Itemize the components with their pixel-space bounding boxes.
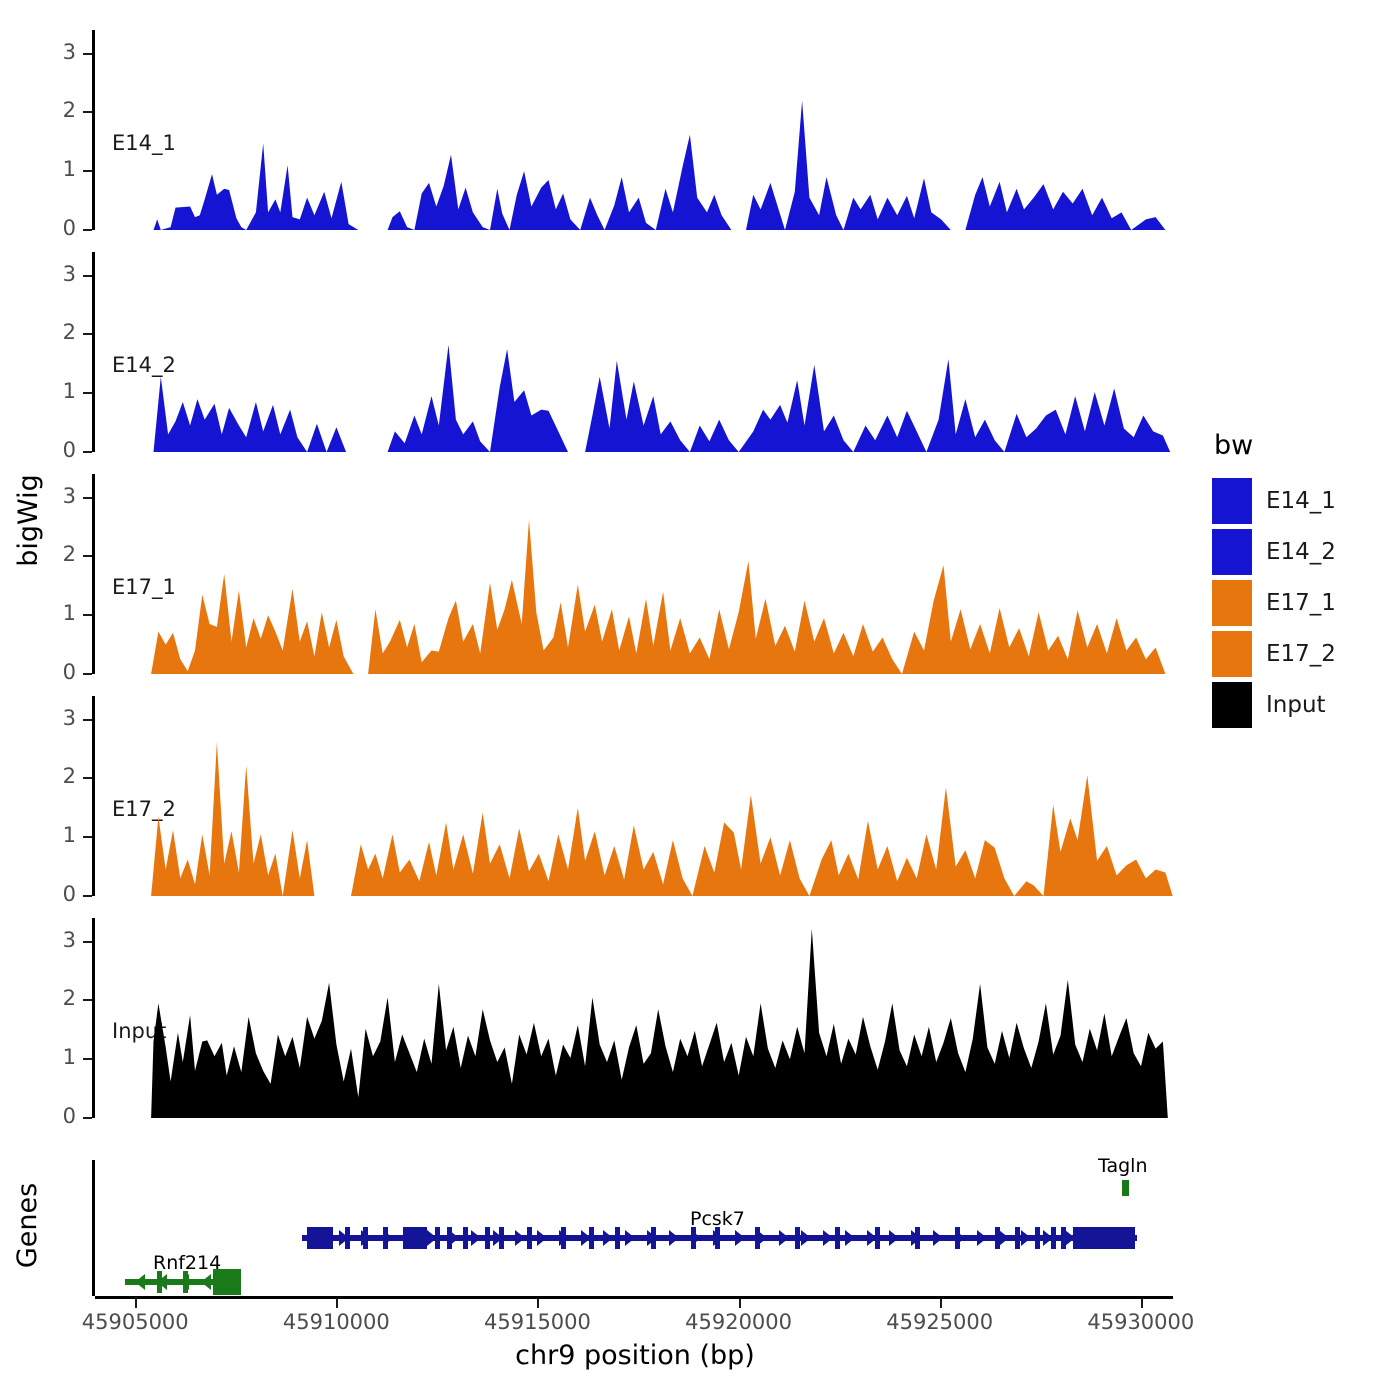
track-fill [154, 345, 1171, 452]
y-tick [83, 777, 92, 779]
pcsk7-strand-arrow [471, 1230, 481, 1246]
pcsk7-exon-tick [835, 1227, 840, 1249]
gene-label-rnf214: Rnf214 [153, 1252, 221, 1274]
pcsk7-strand-arrow [625, 1230, 635, 1246]
pcsk7-exon-tick [485, 1227, 490, 1249]
track-svg [95, 252, 1180, 452]
y-tick-label: 2 [36, 986, 76, 1010]
pcsk7-strand-arrow [889, 1230, 899, 1246]
pcsk7-strand-arrow [669, 1230, 679, 1246]
pcsk7-exon-tick [795, 1227, 800, 1249]
y-tick [83, 614, 92, 616]
y-tick-label: 2 [36, 98, 76, 122]
legend-item-e14_1[interactable]: E14_1 [1212, 475, 1336, 526]
x-axis-title: chr9 position (bp) [90, 1340, 1180, 1371]
pcsk7-exon-tick [463, 1227, 468, 1249]
y-tick-label: 3 [36, 484, 76, 508]
y-tick [83, 1058, 92, 1060]
y-tick [83, 719, 92, 721]
legend: bw E14_1E14_2E17_1E17_2Input [1212, 430, 1336, 730]
x-tick [537, 1299, 539, 1308]
pcsk7-strand-arrow [735, 1230, 745, 1246]
y-tick [83, 673, 92, 675]
legend-label: Input [1266, 692, 1326, 718]
y-tick [83, 895, 92, 897]
pcsk7-strand-arrow [845, 1230, 855, 1246]
pcsk7-strand-arrow [823, 1230, 833, 1246]
track-area-e14_1 [95, 30, 1180, 230]
pcsk7-exon [1073, 1227, 1135, 1249]
y-tick [83, 836, 92, 838]
genes-svg [95, 1160, 1180, 1296]
track-panel-e17_1: 0123E17_1 [0, 474, 1180, 674]
track-svg [95, 474, 1180, 674]
legend-label: E17_1 [1266, 590, 1336, 616]
gene-label-tagln: Tagln [1098, 1155, 1148, 1177]
y-tick-label: 1 [36, 1045, 76, 1069]
track-fill [151, 520, 1165, 674]
y-tick-label: 1 [36, 601, 76, 625]
legend-item-e17_2[interactable]: E17_2 [1212, 628, 1336, 679]
y-tick [83, 941, 92, 943]
pcsk7-strand-arrow [999, 1230, 1009, 1246]
track-svg [95, 696, 1180, 896]
legend-title: bw [1214, 430, 1336, 461]
legend-color-swatch [1212, 631, 1252, 677]
pcsk7-strand-arrow [933, 1230, 943, 1246]
y-tick-label: 0 [36, 660, 76, 684]
legend-color-swatch [1212, 478, 1252, 524]
y-tick-label: 2 [36, 764, 76, 788]
legend-color-swatch [1212, 682, 1252, 728]
x-tick [1141, 1299, 1143, 1308]
x-tick [336, 1299, 338, 1308]
pcsk7-strand-arrow [757, 1230, 767, 1246]
pcsk7-strand-arrow [449, 1230, 459, 1246]
y-tick [83, 999, 92, 1001]
y-tick-label: 1 [36, 379, 76, 403]
rnf214-strand-arrow [201, 1274, 211, 1290]
y-tick-label: 0 [36, 438, 76, 462]
pcsk7-exon-tick [527, 1227, 532, 1249]
legend-items: E14_1E14_2E17_1E17_2Input [1212, 475, 1336, 730]
track-fill [151, 742, 1173, 896]
legend-color-swatch [1212, 580, 1252, 626]
x-tick [739, 1299, 741, 1308]
legend-item-input[interactable]: Input [1212, 679, 1336, 730]
pcsk7-strand-arrow [1021, 1230, 1031, 1246]
track-area-e17_2 [95, 696, 1180, 896]
y-tick-label: 3 [36, 262, 76, 286]
y-tick [83, 229, 92, 231]
legend-item-e14_2[interactable]: E14_2 [1212, 526, 1336, 577]
legend-item-e17_1[interactable]: E17_1 [1212, 577, 1336, 628]
pcsk7-strand-arrow [603, 1230, 613, 1246]
track-svg [95, 30, 1180, 230]
y-tick [83, 451, 92, 453]
genes-area [95, 1160, 1180, 1296]
x-tick-label: 45915000 [447, 1310, 627, 1334]
legend-label: E14_1 [1266, 488, 1336, 514]
y-tick-label: 0 [36, 216, 76, 240]
x-axis-line [95, 1296, 1173, 1299]
y-tick-label: 0 [36, 1104, 76, 1128]
track-panel-input: 0123Input [0, 918, 1180, 1118]
y-tick [83, 392, 92, 394]
x-tick-label: 45905000 [45, 1310, 225, 1334]
track-area-input [95, 918, 1180, 1118]
y-tick [83, 111, 92, 113]
y-tick-label: 3 [36, 928, 76, 952]
pcsk7-strand-arrow [801, 1230, 811, 1246]
y-axis-title-genes: Genes [8, 1160, 48, 1290]
x-tick-label: 45930000 [1051, 1310, 1231, 1334]
y-tick-label: 0 [36, 882, 76, 906]
y-tick-label: 3 [36, 706, 76, 730]
x-tick-label: 45910000 [246, 1310, 426, 1334]
track-fill [154, 101, 1166, 230]
track-panel-e17_2: 0123E17_2 [0, 696, 1180, 896]
x-tick [940, 1299, 942, 1308]
pcsk7-strand-arrow [537, 1230, 547, 1246]
gene-label-pcsk7: Pcsk7 [690, 1208, 745, 1230]
x-tick [135, 1299, 137, 1308]
pcsk7-exon-tick [615, 1227, 620, 1249]
y-tick [83, 53, 92, 55]
pcsk7-strand-arrow [515, 1230, 525, 1246]
y-tick [83, 275, 92, 277]
y-tick [83, 170, 92, 172]
y-tick [83, 497, 92, 499]
track-area-e17_1 [95, 474, 1180, 674]
track-area-e14_2 [95, 252, 1180, 452]
legend-label: E14_2 [1266, 539, 1336, 565]
y-tick [83, 555, 92, 557]
y-tick-label: 1 [36, 823, 76, 847]
tagln-exon [1122, 1180, 1129, 1196]
y-tick [83, 333, 92, 335]
track-fill [151, 929, 1168, 1118]
pcsk7-strand-arrow [779, 1230, 789, 1246]
track-panel-e14_1: 0123E14_1 [0, 30, 1180, 230]
track-svg [95, 918, 1180, 1118]
y-tick [83, 1117, 92, 1119]
pcsk7-exon-tick [1035, 1227, 1040, 1249]
rnf214-strand-arrow [135, 1274, 145, 1290]
legend-color-swatch [1212, 529, 1252, 575]
x-tick-label: 45925000 [850, 1310, 1030, 1334]
pcsk7-exon-tick [1015, 1227, 1020, 1249]
y-tick-label: 2 [36, 542, 76, 566]
y-tick-label: 3 [36, 40, 76, 64]
legend-label: E17_2 [1266, 641, 1336, 667]
y-tick-label: 1 [36, 157, 76, 181]
pcsk7-strand-arrow [977, 1230, 987, 1246]
x-tick-label: 45920000 [649, 1310, 829, 1334]
y-tick-label: 2 [36, 320, 76, 344]
track-panel-e14_2: 0123E14_2 [0, 252, 1180, 452]
